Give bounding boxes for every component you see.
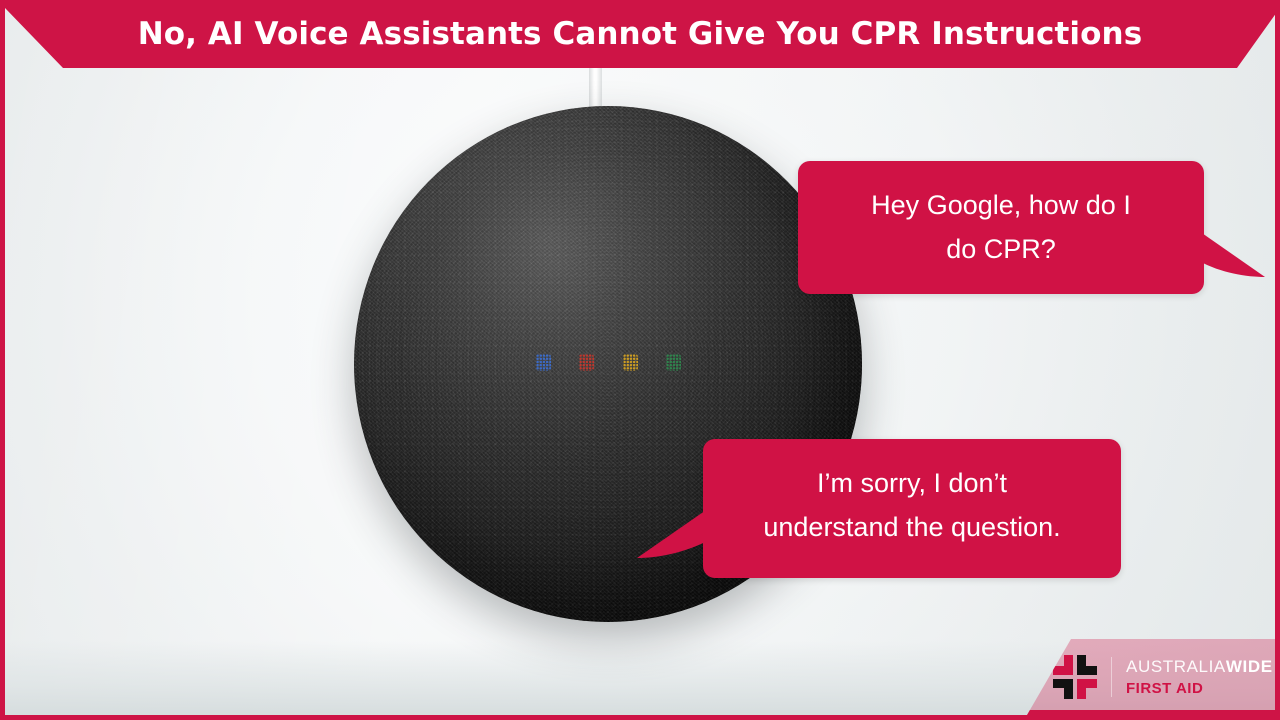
speech-bubble-tail-left-icon [631,508,709,568]
speech-bubble-tail-right-icon [1199,231,1271,287]
logo-wordmark: AUSTRALIAWIDE FIRST AID [1126,658,1273,696]
speech-bubble-question: Hey Google, how do I do CPR? [798,161,1204,294]
led-green-icon [666,354,681,371]
cross-quadrant-top-right [1077,655,1097,675]
logo-name-light: AUSTRALIA [1126,657,1226,676]
logo-name-bold: WIDE [1226,657,1273,676]
page-title: No, AI Voice Assistants Cannot Give You … [5,14,1275,54]
logo-tagline: FIRST AID [1126,681,1273,696]
bubble-question-line-2: do CPR? [824,227,1178,271]
led-red-icon [579,354,594,371]
first-aid-cross-icon [1053,655,1097,699]
speech-bubble-answer: I’m sorry, I don’t understand the questi… [703,439,1121,578]
led-blue-icon [536,354,551,371]
bubble-answer-line-1: I’m sorry, I don’t [729,461,1095,505]
logo-company-name: AUSTRALIAWIDE [1126,658,1273,675]
logo-divider [1111,657,1112,697]
speaker-led-row [536,352,681,372]
cross-quadrant-bottom-left [1053,679,1073,699]
cross-quadrant-bottom-right [1077,679,1097,699]
social-graphic-canvas: No, AI Voice Assistants Cannot Give You … [0,0,1280,720]
bubble-question-line-1: Hey Google, how do I [824,183,1178,227]
bubble-answer-line-2: understand the question. [729,505,1095,549]
led-yellow-icon [623,354,638,371]
